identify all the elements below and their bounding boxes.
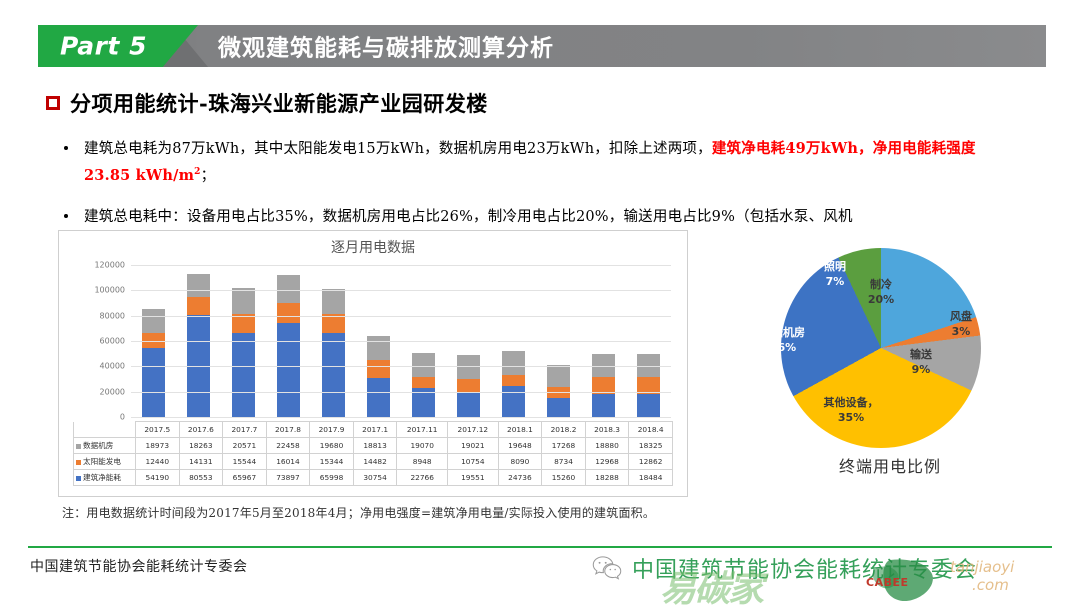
table-cell: 54190 xyxy=(136,470,180,486)
table-cell: 19551 xyxy=(448,470,499,486)
table-cell: 15544 xyxy=(223,454,267,470)
chart-gridline xyxy=(131,366,671,367)
table-row-header: 太阳能发电 xyxy=(74,454,136,470)
table-cell: 19648 xyxy=(498,438,542,454)
bar-segment-datacenter xyxy=(322,289,345,314)
bullet-list: 建筑总电耗为87万kWh，其中太阳能发电15万kWh，数据机房用电23万kWh，… xyxy=(58,136,1026,244)
table-cell: 10754 xyxy=(448,454,499,470)
table-cell: 18973 xyxy=(136,438,180,454)
pie-slice-name: 制冷 xyxy=(870,278,892,291)
bar-segment-net xyxy=(547,398,570,417)
footer-divider xyxy=(28,546,1052,548)
bullet-text-2: 建筑总电耗中：设备用电占比35%，数据机房用电占比26%，制冷用电占比20%，输… xyxy=(84,204,853,231)
table-col-header: 2017.11 xyxy=(397,422,448,438)
chart-title: 逐月用电数据 xyxy=(59,237,687,257)
chart-gridline xyxy=(131,290,671,291)
table-cell: 73897 xyxy=(266,470,310,486)
pie-slice-value: 9% xyxy=(910,363,932,378)
table-col-header: 2018.3 xyxy=(585,422,629,438)
bar-segment-datacenter xyxy=(142,309,165,333)
y-axis-tick-label: 100000 xyxy=(94,286,125,295)
table-cell: 8090 xyxy=(498,454,542,470)
table-cell: 8948 xyxy=(397,454,448,470)
y-axis-tick-label: 40000 xyxy=(100,362,125,371)
table-cell: 18813 xyxy=(353,438,397,454)
pie-slice-value: 3% xyxy=(950,325,972,340)
bar-segment-datacenter xyxy=(277,275,300,303)
chart-gridline xyxy=(131,392,671,393)
table-corner xyxy=(74,422,136,438)
table-cell: 22766 xyxy=(397,470,448,486)
pie-slice-label: 输送9% xyxy=(910,348,932,378)
pie-slice-value: 7% xyxy=(824,275,846,290)
bullet-dot-icon xyxy=(64,146,68,150)
table-row: 太阳能发电12440141311554416014153441448289481… xyxy=(74,454,673,470)
pie-slice-label: 风盘3% xyxy=(950,310,972,340)
banner-title: 微观建筑能耗与碳排放测算分析 xyxy=(218,28,554,62)
pie-slice-label: 其他设备，35% xyxy=(824,396,879,426)
chart-plot-area: 020000400006000080000100000120000 xyxy=(131,265,671,417)
section-banner: Part 5 微观建筑能耗与碳排放测算分析 xyxy=(38,25,1046,67)
table-cell: 18880 xyxy=(585,438,629,454)
table-col-header: 2018.1 xyxy=(498,422,542,438)
bar-segment-net xyxy=(457,392,480,417)
table-cell: 14482 xyxy=(353,454,397,470)
banner-part-label: Part 5 xyxy=(60,32,147,61)
table-cell: 12862 xyxy=(629,454,673,470)
table-cell: 15260 xyxy=(542,470,586,486)
list-item: 建筑总电耗为87万kWh，其中太阳能发电15万kWh，数据机房用电23万kWh，… xyxy=(58,136,1026,190)
chart-gridline xyxy=(131,341,671,342)
pie-slice-name: 输送 xyxy=(910,348,932,361)
y-axis-tick-label: 60000 xyxy=(100,337,125,346)
wechat-icon xyxy=(592,555,622,581)
bar-segment-net xyxy=(637,394,660,417)
pie-slice-name: 其他设备， xyxy=(824,396,879,409)
bar-segment-datacenter xyxy=(412,353,435,377)
table-cell: 17268 xyxy=(542,438,586,454)
pie-slice-value: 35% xyxy=(824,411,879,426)
pie-slice-label: 制冷20% xyxy=(868,278,894,308)
pie-slice-label: 数据机房26% xyxy=(761,326,805,356)
bar-segment-solar xyxy=(367,360,390,378)
legend-swatch xyxy=(76,444,81,449)
pie-chart-caption: 终端用电比例 xyxy=(735,453,1045,477)
legend-swatch xyxy=(76,460,81,465)
table-col-header: 2017.5 xyxy=(136,422,180,438)
table-cell: 16014 xyxy=(266,454,310,470)
table-cell: 14131 xyxy=(179,454,223,470)
table-row: 建筑净能耗54190805536596773897659983075422766… xyxy=(74,470,673,486)
pie-slice-value: 26% xyxy=(761,341,805,356)
table-cell: 19070 xyxy=(397,438,448,454)
table-cell: 24736 xyxy=(498,470,542,486)
table-cell: 18288 xyxy=(585,470,629,486)
table-row-header: 建筑净能耗 xyxy=(74,470,136,486)
page-title-text: 分项用能统计-珠海兴业新能源产业园研发楼 xyxy=(70,88,488,118)
bar-segment-net xyxy=(592,394,615,417)
y-axis-tick-label: 20000 xyxy=(100,387,125,396)
pie-slice-label: 照明7% xyxy=(824,260,846,290)
bar-segment-datacenter xyxy=(502,351,525,376)
bar-segment-solar xyxy=(502,375,525,385)
bar-segment-solar xyxy=(457,379,480,393)
bar-segment-net xyxy=(322,333,345,417)
bar-segment-net xyxy=(142,348,165,417)
table-cell: 15344 xyxy=(310,454,354,470)
bar-segment-solar xyxy=(277,303,300,323)
table-cell: 19021 xyxy=(448,438,499,454)
pie-slice-name: 风盘 xyxy=(950,310,972,323)
table-col-header: 2017.7 xyxy=(223,422,267,438)
bar-segment-solar xyxy=(412,377,435,388)
chart-gridline xyxy=(131,265,671,266)
bar-segment-net xyxy=(367,378,390,417)
chart-gridline xyxy=(131,316,671,317)
chart-data-table: 2017.52017.62017.72017.82017.92017.12017… xyxy=(73,421,673,486)
footer-wechat-account: 中国建筑节能协会能耗统计专委会 xyxy=(632,552,977,584)
table-cell: 8734 xyxy=(542,454,586,470)
table-cell: 18325 xyxy=(629,438,673,454)
bar-segment-datacenter xyxy=(547,365,570,387)
bar-segment-solar xyxy=(232,314,255,334)
table-col-header: 2017.6 xyxy=(179,422,223,438)
bar-segment-net xyxy=(232,333,255,417)
table-col-header: 2017.12 xyxy=(448,422,499,438)
end-use-pie-chart: 制冷20%风盘3%输送9%其他设备，35%数据机房26%照明7% 终端用电比例 xyxy=(735,248,1045,498)
table-col-header: 2017.9 xyxy=(310,422,354,438)
bar-segment-datacenter xyxy=(367,336,390,360)
table-col-header: 2017.8 xyxy=(266,422,310,438)
list-item: 建筑总电耗中：设备用电占比35%，数据机房用电占比26%，制冷用电占比20%，输… xyxy=(58,204,1026,231)
bar-segment-net xyxy=(277,323,300,417)
bar-segment-net xyxy=(502,386,525,417)
monthly-electricity-chart: 逐月用电数据 020000400006000080000100000120000… xyxy=(58,230,688,497)
table-cell: 18484 xyxy=(629,470,673,486)
pie-slice-name: 照明 xyxy=(824,260,846,273)
table-cell: 80553 xyxy=(179,470,223,486)
bar-segment-solar xyxy=(187,297,210,315)
footer-wechat-group: 中国建筑节能协会能耗统计专委会 xyxy=(592,552,977,584)
bar-segment-datacenter xyxy=(232,288,255,314)
table-cell: 12968 xyxy=(585,454,629,470)
table-col-header: 2018.2 xyxy=(542,422,586,438)
footer-organization: 中国建筑节能协会能耗统计专委会 xyxy=(30,556,248,576)
square-bullet-icon xyxy=(46,96,60,110)
table-cell: 19680 xyxy=(310,438,354,454)
footnote: 注：用电数据统计时间段为2017年5月至2018年4月；净用电强度=建筑净用电量… xyxy=(62,504,655,521)
bullet-1-tail: ； xyxy=(201,168,216,184)
pie-slice-value: 20% xyxy=(868,293,894,308)
table-row: 数据机房189731826320571224581968018813190701… xyxy=(74,438,673,454)
table-cell: 20571 xyxy=(223,438,267,454)
bullet-1-plain: 建筑总电耗为87万kWh，其中太阳能发电15万kWh，数据机房用电23万kWh，… xyxy=(84,141,712,157)
watermark-url-bottom: .com xyxy=(972,576,1009,594)
y-axis-tick-label: 120000 xyxy=(94,261,125,270)
bullet-text-1: 建筑总电耗为87万kWh，其中太阳能发电15万kWh，数据机房用电23万kWh，… xyxy=(84,136,1026,190)
table-cell: 30754 xyxy=(353,470,397,486)
chart-gridline xyxy=(131,417,671,418)
page-title: 分项用能统计-珠海兴业新能源产业园研发楼 xyxy=(46,88,488,118)
bullet-1-unit: kWh/m xyxy=(136,167,195,184)
bullet-dot-icon xyxy=(64,214,68,218)
bar-segment-datacenter xyxy=(187,274,210,297)
table-cell: 18263 xyxy=(179,438,223,454)
table-cell: 22458 xyxy=(266,438,310,454)
table-cell: 65967 xyxy=(223,470,267,486)
table-cell: 65998 xyxy=(310,470,354,486)
y-axis-tick-label: 80000 xyxy=(100,311,125,320)
legend-swatch xyxy=(76,476,81,481)
bar-segment-solar xyxy=(322,314,345,333)
table-col-header: 2017.1 xyxy=(353,422,397,438)
table-col-header: 2018.4 xyxy=(629,422,673,438)
pie-slice-name: 数据机房 xyxy=(761,326,805,339)
table-cell: 12440 xyxy=(136,454,180,470)
table-row-header: 数据机房 xyxy=(74,438,136,454)
